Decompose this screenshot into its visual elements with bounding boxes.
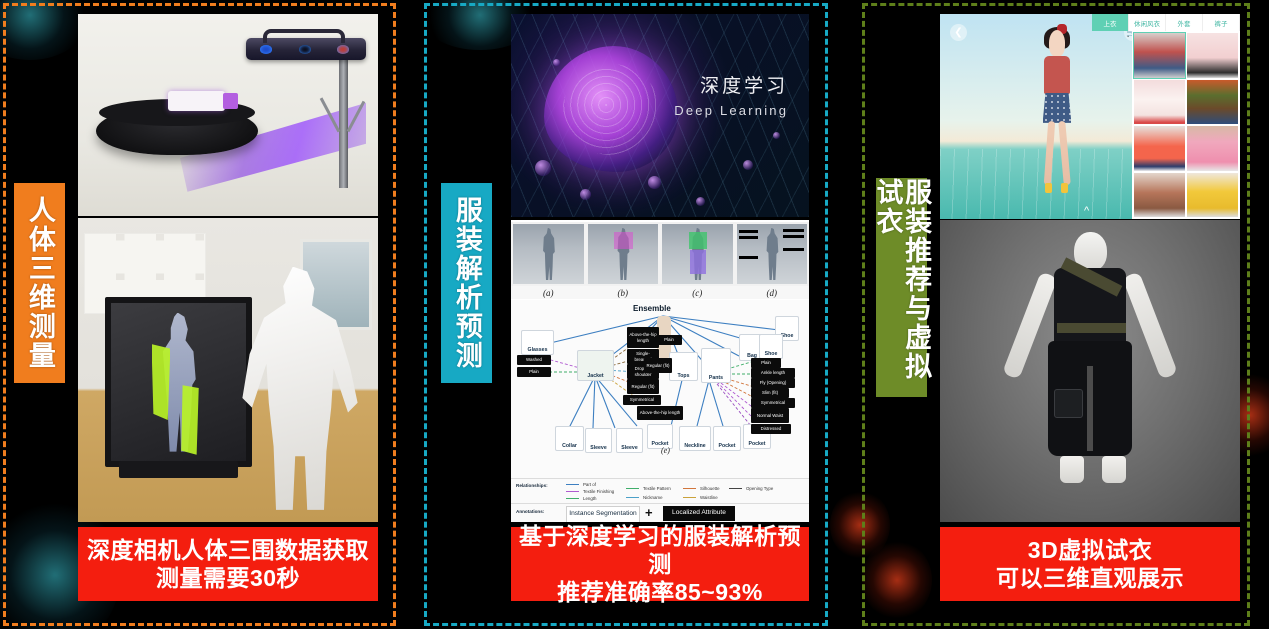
graph-subfigure-label-e: (e) <box>661 446 670 455</box>
chevron-up-icon[interactable]: ^ <box>1084 205 1089 217</box>
caption-line-2: 推荐准确率85~93% <box>557 578 763 606</box>
tag-slim-fit: Slim (fit) <box>751 388 789 398</box>
node-pants: Pants <box>701 348 731 383</box>
legend-line-nickname <box>626 497 639 498</box>
node-tops: Tops <box>669 352 698 381</box>
virtual-model-avatar <box>1027 30 1087 198</box>
legend-item-opening-type: Opening Type <box>746 486 773 491</box>
thumbnail-pink-ruffle-blouse[interactable] <box>1187 33 1238 78</box>
parsing-example-a <box>513 224 584 284</box>
thumbnail-pink-hooded-puffer[interactable] <box>1187 126 1238 171</box>
legend-line-part-of <box>566 484 579 485</box>
legend-line-silhouette <box>683 488 696 489</box>
legend-item-textile-finishing: Textile Finishing <box>583 489 614 494</box>
deep-learning-brain-image: 深度学习 Deep Learning <box>511 14 809 217</box>
caption-virtual-tryon: 3D虚拟试衣 可以三维直观展示 <box>940 527 1240 601</box>
tab-tops[interactable]: 上衣 <box>1092 14 1129 31</box>
tag-above-hip-length: Above-the-hip length <box>627 327 659 348</box>
legend-line-waistline <box>683 497 696 498</box>
subfigure-labels: (a) (b) (c) (d) <box>511 286 809 299</box>
section-label-clothing-parsing: 服装解析预测 <box>441 183 492 383</box>
depth-scanner-photo <box>78 14 378 216</box>
thumbnail-yellow-jacket[interactable] <box>1187 173 1238 218</box>
figure-legend: Relationships: Part of Textile Finishing… <box>511 478 809 504</box>
legend-line-textile-finishing <box>566 491 579 492</box>
tag-plain-tops: Plain <box>656 335 682 345</box>
legend-annotations-label: Annotations: <box>516 509 544 514</box>
legend-item-nickname: Nickname <box>643 495 663 500</box>
tab-casual-windbreaker[interactable]: 休闲风衣 <box>1129 14 1166 31</box>
tag-washed: Washed <box>517 355 551 365</box>
thumbnail-white-lace-dress[interactable] <box>1134 80 1185 125</box>
node-pocket-2: Pocket <box>713 426 741 451</box>
garment-category-tabs[interactable]: 上衣 休闲风衣 外套 裤子 <box>1092 14 1240 31</box>
node-jacket: Jacket <box>577 350 614 381</box>
tag-regular-fit-tops: Regular (fit) <box>644 358 672 373</box>
legend-item-waistline: Waistline <box>700 495 718 500</box>
tag-plain-pants: Plain <box>751 358 781 368</box>
subfigure-label-d: (d) <box>735 288 810 298</box>
node-sleeve-2: Sleeve <box>616 428 643 453</box>
thumbnail-coral-tank-top[interactable] <box>1134 126 1185 171</box>
tag-plain-jacket: Plain <box>517 367 551 377</box>
caption-clothing-parsing: 基于深度学习的服装解析预测 推荐准确率85~93% <box>511 527 809 601</box>
caption-line-1: 3D虚拟试衣 <box>1028 536 1152 564</box>
body-scan-lab-photo <box>78 218 378 522</box>
parsing-example-strip <box>511 222 809 286</box>
legend-line-length <box>566 498 579 499</box>
caption-line-2: 测量需要30秒 <box>156 564 300 592</box>
section-label-recommendation-tryon: 服装推荐与虚拟试衣 <box>876 178 927 397</box>
parsing-example-b <box>588 224 659 284</box>
subfigure-label-c: (c) <box>660 288 735 298</box>
tab-outerwear[interactable]: 外套 <box>1166 14 1203 31</box>
clothing-parsing-figure: (a) (b) (c) (d) <box>511 220 809 522</box>
tag-symmetrical-jacket: Symmetrical <box>623 395 661 405</box>
attribute-graph: Ensemble Glasses Jacket Tops Pants Bag S… <box>511 300 809 478</box>
tag-fly-opening: Fly (Opening) <box>751 378 795 388</box>
graph-root-node: Ensemble <box>633 304 671 313</box>
parsing-example-c <box>662 224 733 284</box>
depth-camera-icon <box>246 38 366 60</box>
brain-title-cn: 深度学习 <box>700 71 788 98</box>
node-collar: Collar <box>555 426 584 451</box>
legend-relationships-label: Relationships: <box>516 483 548 488</box>
node-sleeve-1: Sleeve <box>585 428 612 453</box>
node-glasses: Glasses <box>521 330 554 355</box>
subfigure-label-b: (b) <box>586 288 661 298</box>
legend-item-silhouette: Silhouette <box>700 486 720 491</box>
node-neckline: Neckline <box>679 426 711 451</box>
caption-line-1: 基于深度学习的服装解析预测 <box>511 522 809 578</box>
tag-distressed: Distressed <box>751 424 791 434</box>
tab-pants[interactable]: 裤子 <box>1203 14 1240 31</box>
annotation-instance-segmentation: Instance Segmentation <box>566 506 640 522</box>
tag-above-hip-length-2: Above-the-hip length <box>637 406 683 420</box>
tag-ankle-length: Ankle length <box>751 368 795 378</box>
legend-line-textile-pattern <box>626 488 639 489</box>
caption-line-2: 可以三维直观展示 <box>996 564 1184 592</box>
section-label-body-measurement: 人体三维测量 <box>14 183 65 383</box>
parsing-example-d <box>737 224 808 284</box>
subfigure-label-a: (a) <box>511 288 586 298</box>
caption-body-measurement: 深度相机人体三围数据获取 测量需要30秒 <box>78 527 378 601</box>
3d-avatar-render <box>940 220 1240 522</box>
slide-root: 人体三维测量 深度相机人体三围数据获取 测量需要30秒 深度学习 Deep Le… <box>0 0 1269 629</box>
virtual-try-on-app: ❮ 🛒 ^ 上衣 休闲风衣 外套 裤子 <box>940 14 1240 219</box>
node-shoe-2: Shoe <box>759 334 783 359</box>
annotations-row: Annotations: Instance Segmentation + Loc… <box>511 503 809 522</box>
thumbnail-red-tee-denim-skirt[interactable] <box>1134 33 1185 78</box>
chevron-left-icon[interactable]: ❮ <box>950 24 967 41</box>
tag-normal-waist: Normal Waist <box>751 408 789 423</box>
tag-regular-fit-jacket: Regular (fit) <box>627 379 659 394</box>
scan-display-screen <box>105 297 252 467</box>
annotation-localized-attribute: Localized Attribute <box>663 506 735 521</box>
tag-symmetrical-pants: Symmetrical <box>751 398 795 408</box>
garment-thumbnail-grid[interactable] <box>1132 31 1240 219</box>
thumbnail-colorblock-knit[interactable] <box>1187 80 1238 125</box>
annotation-plus-symbol: + <box>645 505 653 520</box>
brain-title-en: Deep Learning <box>674 103 788 118</box>
caption-line-1: 深度相机人体三围数据获取 <box>87 536 369 564</box>
thumbnail-floral-camisole[interactable] <box>1134 173 1185 218</box>
legend-line-opening-type <box>729 488 742 489</box>
legend-item-part-of: Part of <box>583 482 596 487</box>
legend-item-textile-pattern: Textile Pattern <box>643 486 671 491</box>
legend-item-length: Length <box>583 496 596 501</box>
